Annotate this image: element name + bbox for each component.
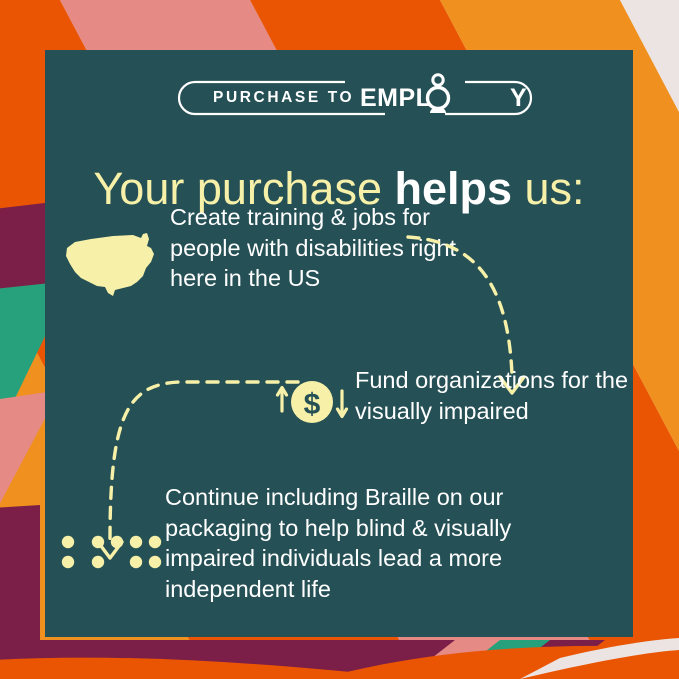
benefit-text-braille-packaging: Continue including Braille on our packag… xyxy=(165,482,595,604)
braille-dots-icon xyxy=(56,530,166,580)
logo-big-text: EMPL xyxy=(360,72,431,124)
headline-part-2: us: xyxy=(512,163,585,214)
benefit-text-fund-organizations: Fund organizations for the visually impa… xyxy=(355,365,645,426)
logo-tail-text: Y xyxy=(510,72,527,124)
logo-small-text: PURCHASE TO xyxy=(213,72,354,124)
brand-logo: PURCHASE TO EMPL Y xyxy=(45,72,633,124)
content-panel: PURCHASE TO EMPL Y Your purchase helps u… xyxy=(45,50,633,637)
poster-canvas: PURCHASE TO EMPL Y Your purchase helps u… xyxy=(0,0,679,679)
us-map-icon xyxy=(61,230,161,302)
